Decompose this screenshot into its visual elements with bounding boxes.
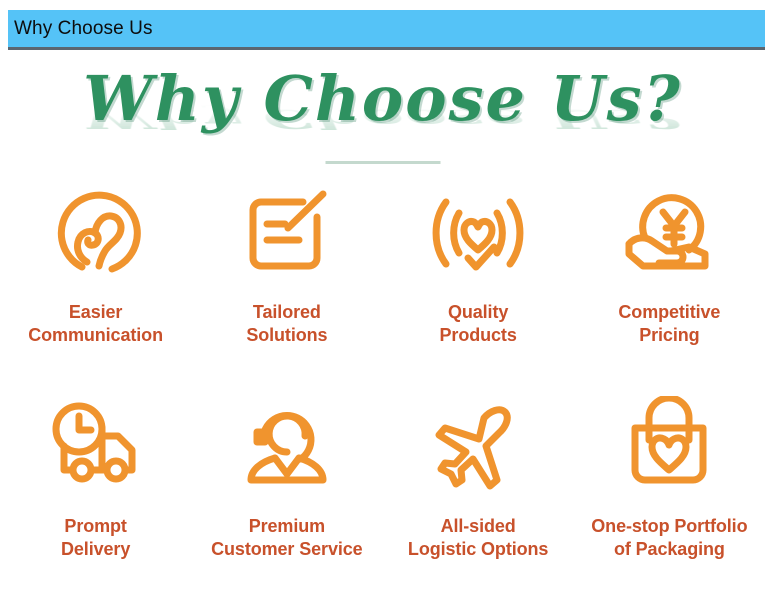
- feature-label-line1: One-stop Portfolio: [591, 515, 747, 538]
- feature-label: Premium Customer Service: [211, 515, 362, 561]
- shopping-bag-heart-icon: [610, 387, 728, 505]
- feature-label: One-stop Portfolio of Packaging: [591, 515, 747, 561]
- feature-label-line2: Logistic Options: [408, 538, 548, 561]
- feature-label-line2: Customer Service: [211, 538, 362, 561]
- feature-item-quality-products[interactable]: Quality Products: [383, 173, 574, 387]
- feature-label-line2: Solutions: [246, 324, 327, 347]
- feature-label-line1: Premium: [211, 515, 362, 538]
- feature-label: Easier Communication: [28, 301, 163, 347]
- window-title: Why Choose Us: [8, 18, 153, 40]
- feature-item-tailored-solutions[interactable]: Tailored Solutions: [191, 173, 382, 387]
- feature-label: Competitive Pricing: [618, 301, 720, 347]
- feature-label-line2: Pricing: [618, 324, 720, 347]
- feature-label-line1: Tailored: [246, 301, 327, 324]
- document-pencil-icon: [228, 173, 346, 291]
- feature-label-line2: Communication: [28, 324, 163, 347]
- heart-signal-check-icon: [419, 173, 537, 291]
- feature-label: Prompt Delivery: [61, 515, 130, 561]
- feature-grid: Easier Communication Tailored Solutions: [0, 173, 765, 601]
- page-content: Why Choose Us? Why Choose Us? Easier Com…: [0, 55, 765, 599]
- delivery-truck-clock-icon: [37, 387, 155, 505]
- feature-label-line1: Quality: [440, 301, 517, 324]
- feature-label: All-sided Logistic Options: [408, 515, 548, 561]
- feature-label-line1: Competitive: [618, 301, 720, 324]
- feature-label-line2: Products: [440, 324, 517, 347]
- feature-label-line1: All-sided: [408, 515, 548, 538]
- page-title: Why Choose Us?: [0, 59, 765, 139]
- feature-label-line1: Easier: [28, 301, 163, 324]
- feature-label-line2: of Packaging: [591, 538, 747, 561]
- hand-yen-coin-icon: [610, 173, 728, 291]
- headset-agent-icon: [228, 387, 346, 505]
- ear-listening-icon: [37, 173, 155, 291]
- feature-item-prompt-delivery[interactable]: Prompt Delivery: [0, 387, 191, 601]
- feature-item-competitive-pricing[interactable]: Competitive Pricing: [574, 173, 765, 387]
- window-title-bar: Why Choose Us: [8, 10, 765, 50]
- heading-block: Why Choose Us? Why Choose Us?: [0, 55, 765, 167]
- feature-label-line2: Delivery: [61, 538, 130, 561]
- feature-item-one-stop-portfolio-of-packaging[interactable]: One-stop Portfolio of Packaging: [574, 387, 765, 601]
- airplane-icon: [419, 387, 537, 505]
- feature-item-all-sided-logistic-options[interactable]: All-sided Logistic Options: [383, 387, 574, 601]
- feature-label: Tailored Solutions: [246, 301, 327, 347]
- heading-divider: [325, 161, 440, 164]
- feature-label-line1: Prompt: [61, 515, 130, 538]
- feature-item-easier-communication[interactable]: Easier Communication: [0, 173, 191, 387]
- feature-item-premium-customer-service[interactable]: Premium Customer Service: [191, 387, 382, 601]
- feature-label: Quality Products: [440, 301, 517, 347]
